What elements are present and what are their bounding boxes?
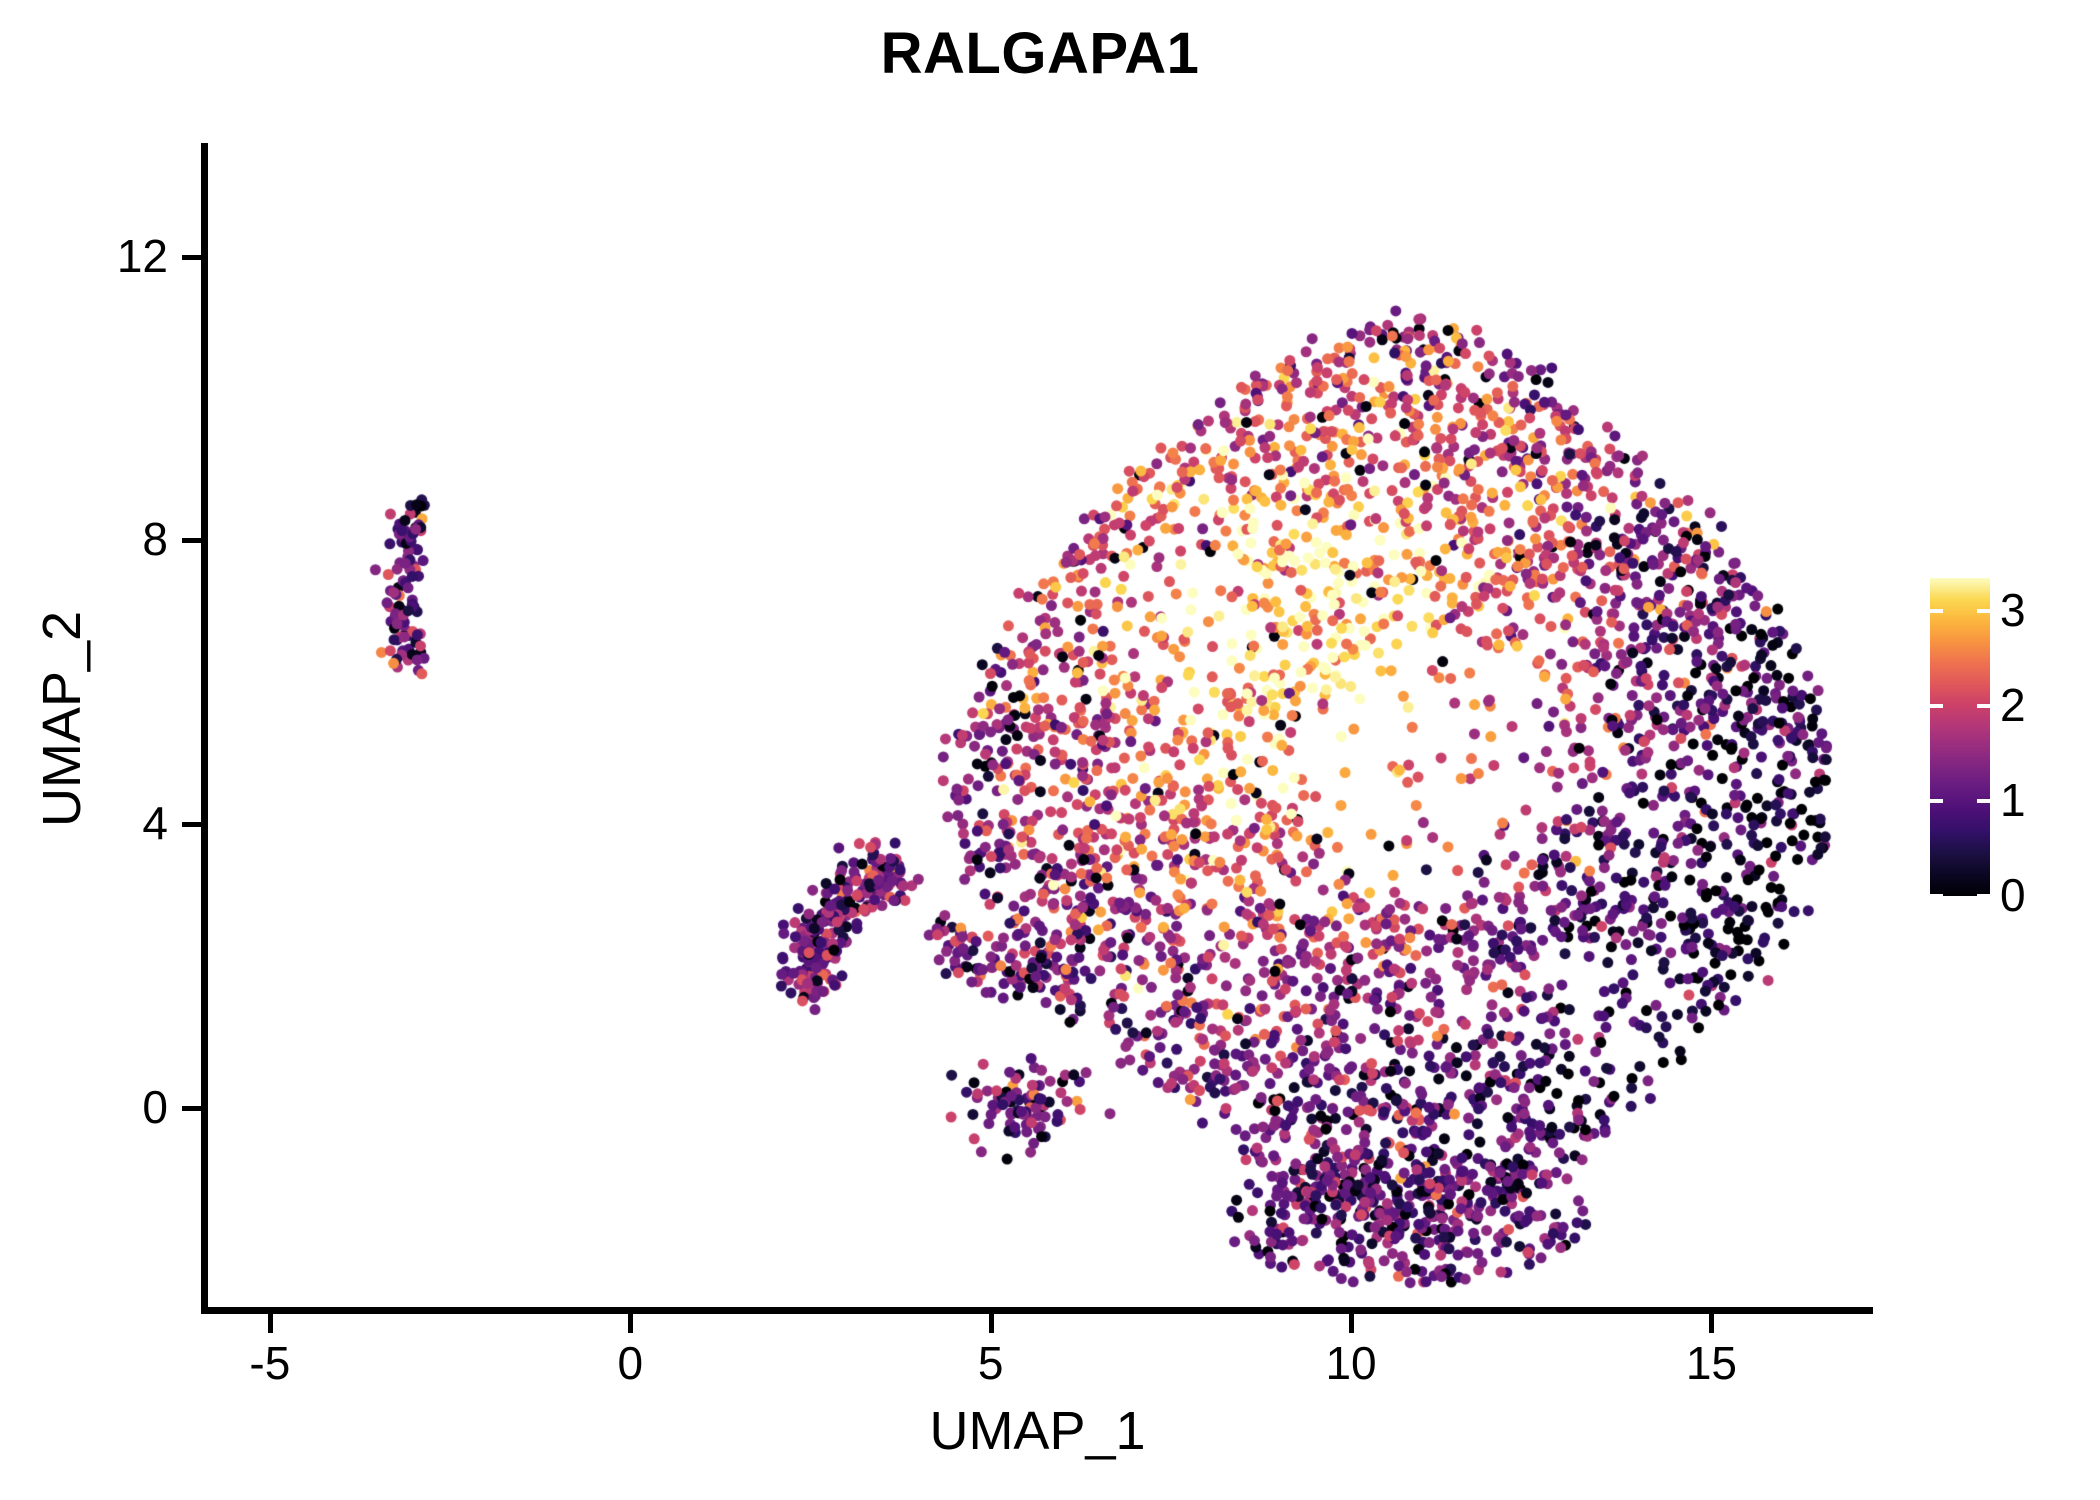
x-tick-mark: [1709, 1314, 1714, 1333]
x-tick-label: -5: [190, 1340, 350, 1386]
page-title: RALGAPA1: [0, 24, 2080, 85]
y-tick-mark: [182, 255, 201, 260]
colorbar-tick-label: 3: [2000, 587, 2026, 633]
colorbar-tick-label: 0: [2000, 872, 2026, 918]
y-tick-mark: [182, 822, 201, 827]
x-tick-label: 5: [911, 1340, 1071, 1386]
colorbar-tick-label: 2: [2000, 682, 2026, 728]
scatter-points-layer: [205, 143, 1870, 1310]
plot-panel[interactable]: [205, 143, 1870, 1310]
x-tick-mark: [628, 1314, 633, 1333]
x-tick-label: 0: [550, 1340, 710, 1386]
x-tick-mark: [268, 1314, 273, 1333]
colorbar-tick-label: 1: [2000, 777, 2026, 823]
y-axis-title: UMAP_2: [31, 369, 93, 1069]
y-tick-label: 12: [0, 233, 168, 279]
x-axis-title: UMAP_1: [205, 1400, 1870, 1462]
x-tick-label: 15: [1631, 1340, 1791, 1386]
y-tick-mark: [182, 1106, 201, 1111]
x-tick-mark: [1349, 1314, 1354, 1333]
y-tick-label: 0: [0, 1084, 168, 1130]
legend-colorbar[interactable]: 3210: [1930, 578, 2090, 896]
y-tick-mark: [182, 538, 201, 543]
chart-root: RALGAPA1 -5051015 04812 UMAP_1 UMAP_2 32…: [0, 0, 2100, 1500]
y-axis-line: [201, 143, 208, 1314]
colorbar-gradient: [1930, 578, 1990, 896]
x-axis-line: [201, 1307, 1873, 1314]
x-tick-label: 10: [1271, 1340, 1431, 1386]
x-tick-mark: [989, 1314, 994, 1333]
